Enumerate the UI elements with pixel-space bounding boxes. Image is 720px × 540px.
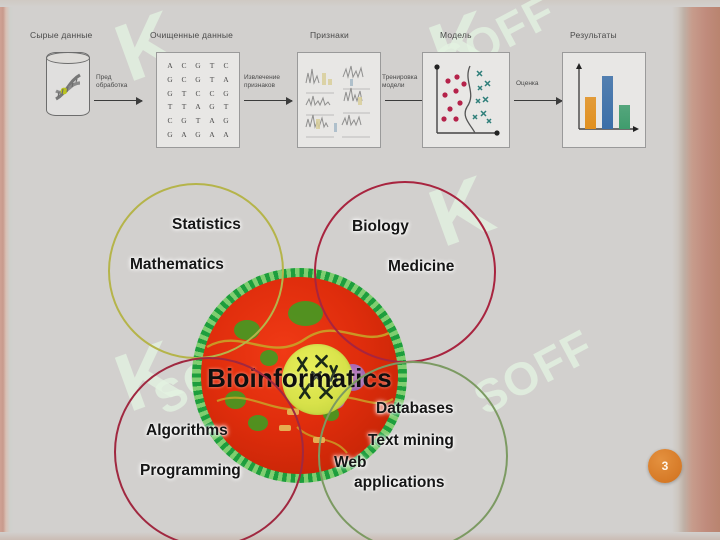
data-science-pipeline-diagram: Сырые данные Пред обработка [22,30,662,165]
dna-base-cell: C [195,89,200,98]
dna-base-cell: A [209,116,214,125]
dna-sample-jar-icon [46,52,90,116]
result-bar [585,97,596,129]
dna-base-cell: C [223,61,228,70]
stage-title-features: Признаки [310,30,349,40]
dna-base-cell: T [224,102,229,111]
venn-label-biology: Biology [352,219,409,236]
dna-helix-icon [47,53,89,115]
dna-base-cell: T [168,102,173,111]
venn-label-programming: Programming [140,463,241,480]
dna-base-cell: G [181,116,186,125]
dna-base-cell: G [195,61,200,70]
dna-base-cell: A [167,61,172,70]
bioinformatics-venn-diagram: Bioinformatics Statistics Mathematics Bi… [96,175,526,540]
arrow-label-feature-extraction: Извлечение признаков [244,74,280,90]
dna-base-cell: A [195,102,200,111]
arrow-label-preprocessing: Пред обработка [96,74,127,90]
dna-base-cell: T [196,116,201,125]
features-panel [297,52,381,148]
stage-title-model: Модель [440,30,472,40]
result-bar [602,76,613,129]
venn-label-applications: applications [354,475,444,492]
venn-label-medicine: Medicine [388,259,454,276]
dna-base-cell: C [181,61,186,70]
dna-base-grid: ACGTCGCGTAGTCCGTTAGTCGTAGGAGAA [163,59,233,141]
venn-label-web: Web [334,455,366,472]
dna-base-cell: G [223,116,228,125]
dna-base-cell: G [223,89,228,98]
decision-boundary-plot-icon [423,53,509,147]
dna-base-cell: G [209,102,214,111]
sequence-grid-panel: ACGTCGCGTAGTCCGTTAGTCGTAGGAGAA [156,52,240,148]
arrow-label-model-training: Тренировка модели [382,74,417,90]
dna-base-cell: A [223,75,228,84]
dna-base-cell: G [167,75,172,84]
dna-base-cell: G [167,89,172,98]
stage-title-raw-data: Сырые данные [30,30,93,40]
page-number-badge: 3 [648,449,682,483]
dna-base-cell: T [182,102,187,111]
dna-base-cell: A [223,130,228,139]
dna-base-cell: C [181,75,186,84]
arrow-label-feature-extraction-line1: Извлечение [244,74,280,81]
venn-circle-algorithms-programming [114,357,304,540]
arrow-label-preprocessing-line2: обработка [96,82,127,89]
results-chart-panel [562,52,646,148]
left-border-decoration [0,0,14,540]
dna-base-cell: T [182,89,187,98]
feature-signal-sketch-icon [298,53,380,147]
venn-label-databases: Databases [376,401,454,418]
model-scatter-panel [422,52,510,148]
dna-base-cell: C [209,89,214,98]
venn-label-statistics: Statistics [172,217,241,234]
dna-base-cell: T [210,61,215,70]
dna-base-cell: C [167,116,172,125]
dna-base-cell: G [167,130,172,139]
arrow-label-model-training-line1: Тренировка [382,74,417,81]
results-bars [585,67,635,129]
venn-label-text-mining: Text mining [368,433,454,450]
dna-base-cell: A [209,130,214,139]
arrow-label-preprocessing-line1: Пред [96,74,112,81]
dna-base-cell: G [195,130,200,139]
dna-base-cell: T [210,75,215,84]
stage-title-results: Результаты [570,30,617,40]
venn-circle-databases-webapps [318,361,508,540]
stage-title-clean-data: Очищенные данные [150,30,233,40]
result-bar [619,105,630,129]
arrow-label-feature-extraction-line2: признаков [244,82,275,89]
pipeline-arrow-evaluation [514,100,562,101]
dna-base-cell: G [195,75,200,84]
top-border-decoration [0,0,720,7]
dna-base-cell: A [181,130,186,139]
pipeline-arrow-preprocessing [94,100,142,101]
pipeline-arrow-feature-extraction [244,100,292,101]
arrow-label-evaluation: Оценка [516,80,539,88]
slide-canvas: KKKKSOFFSOFFSOFF Сырые данные [0,0,720,540]
venn-label-algorithms: Algorithms [146,423,228,440]
arrow-label-model-training-line2: модели [382,82,405,89]
venn-label-mathematics: Mathematics [130,257,224,274]
